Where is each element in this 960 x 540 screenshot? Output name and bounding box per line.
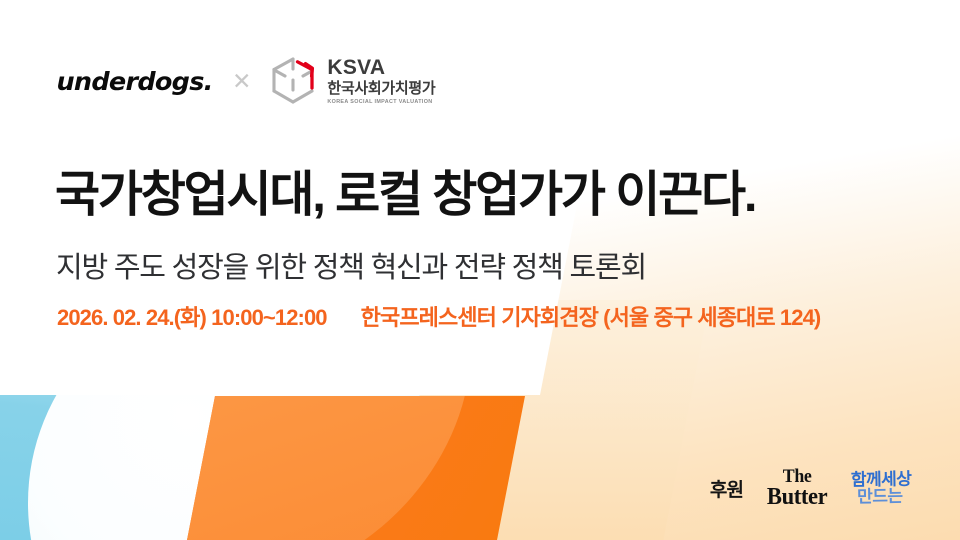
sponsor-label: 후원	[710, 475, 743, 502]
the-butter-logo: The Butter	[767, 468, 827, 508]
sponsor-row: 후원 The Butter 함께세상 만드는	[710, 468, 912, 508]
poster-content: underdogs. ✕	[0, 0, 960, 540]
event-datetime: 2026. 02. 24.(화) 10:00~12:00	[57, 300, 327, 332]
ksva-text-block: KSVA 한국사회가치평가 KOREA SOCIAL IMPACT VALUAT…	[327, 57, 435, 105]
ksva-logo: KSVA 한국사회가치평가 KOREA SOCIAL IMPACT VALUAT…	[268, 55, 435, 107]
together-world-line1: 함께세상	[851, 471, 912, 488]
the-butter-line2: Butter	[767, 486, 827, 508]
ksva-acronym: KSVA	[327, 57, 435, 78]
ksva-cube-icon	[268, 55, 318, 107]
underdogs-logo: underdogs.	[56, 69, 212, 94]
event-venue: 한국프레스센터 기자회견장 (서울 중구 세종대로 124)	[361, 300, 821, 332]
page-title: 국가창업시대, 로컬 창업가가 이끈다.	[55, 169, 755, 223]
event-poster: underdogs. ✕	[0, 0, 960, 540]
ksva-english-tagline: KOREA SOCIAL IMPACT VALUATION	[327, 100, 435, 105]
logo-lockup: underdogs. ✕	[58, 54, 435, 108]
ksva-korean-name: 한국사회가치평가	[327, 81, 435, 96]
collaboration-x-icon: ✕	[232, 70, 251, 93]
together-world-logo: 함께세상 만드는	[851, 471, 912, 505]
event-details: 2026. 02. 24.(화) 10:00~12:00 한국프레스센터 기자회…	[57, 300, 820, 332]
together-world-line2: 만드는	[857, 488, 912, 505]
page-subtitle: 지방 주도 성장을 위한 정책 혁신과 전략 정책 토론회	[56, 250, 646, 286]
